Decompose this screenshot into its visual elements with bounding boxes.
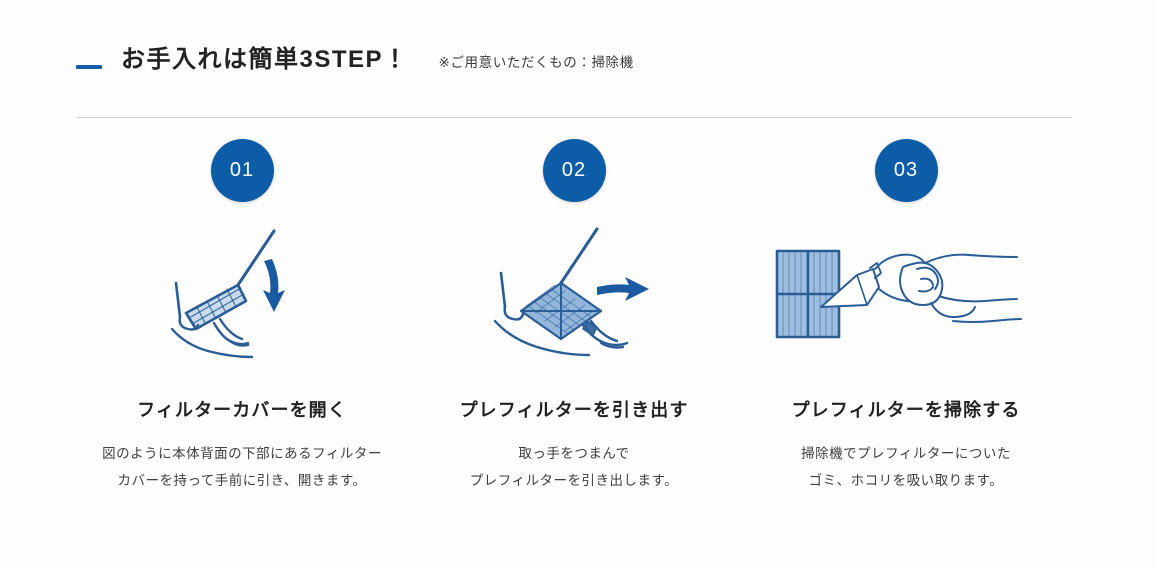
hand-pulling-prefilter-illustration <box>424 220 724 380</box>
step-title: フィルターカバーを開く <box>137 396 347 422</box>
step-item: 03 <box>740 139 1072 494</box>
dash-icon <box>76 65 102 69</box>
step-body: 図のように本体背面の下部にあるフィルター カバーを持って手前に引き、開きます。 <box>102 440 382 494</box>
step-badge-02: 02 <box>543 139 606 202</box>
header-note: ※ご用意いただくもの：掃除機 <box>439 56 634 70</box>
section-header: お手入れは簡単3STEP！ ※ご用意いただくもの：掃除機 <box>76 48 634 72</box>
step-item: 01 <box>76 139 408 494</box>
step-badge-03: 03 <box>875 139 938 202</box>
header-divider <box>76 117 1072 118</box>
hand-opening-filter-cover-illustration <box>92 220 392 380</box>
page-title: お手入れは簡単3STEP！ <box>121 48 409 72</box>
step-item: 02 <box>408 139 740 494</box>
step-body-line: プレフィルターを引き出します。 <box>470 467 678 494</box>
step-body-line: 取っ手をつまんで <box>470 440 678 467</box>
step-title: プレフィルターを引き出す <box>460 396 689 422</box>
step-body-line: 図のように本体背面の下部にあるフィルター <box>102 440 382 467</box>
vacuum-cleaning-prefilter-illustration <box>756 220 1056 380</box>
step-body-line: 掃除機でプレフィルターについた <box>801 440 1011 467</box>
step-title: プレフィルターを掃除する <box>792 396 1021 422</box>
step-body: 掃除機でプレフィルターについた ゴミ、ホコリを吸い取ります。 <box>801 440 1011 494</box>
step-body-line: カバーを持って手前に引き、開きます。 <box>102 467 382 494</box>
step-body: 取っ手をつまんで プレフィルターを引き出します。 <box>470 440 678 494</box>
step-badge-01: 01 <box>211 139 274 202</box>
steps-container: 01 <box>76 139 1072 494</box>
step-body-line: ゴミ、ホコリを吸い取ります。 <box>801 467 1011 494</box>
